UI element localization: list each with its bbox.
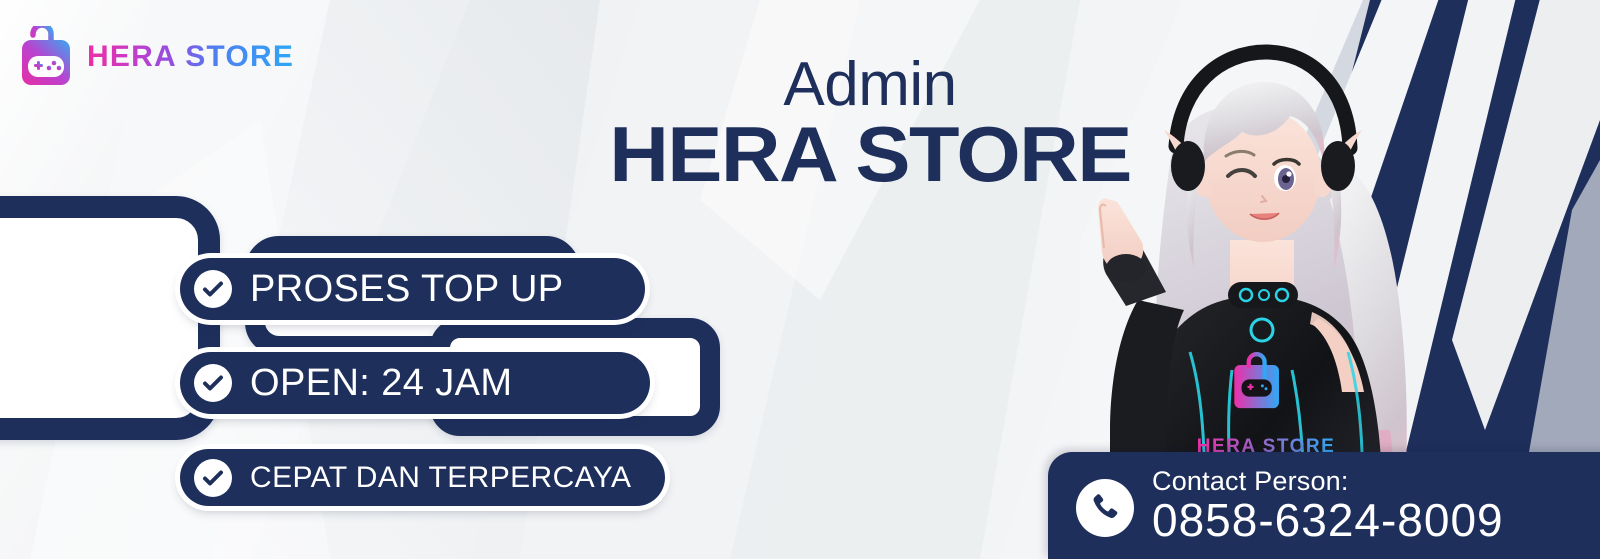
check-circle-icon bbox=[194, 270, 232, 308]
brand-logo-text: HERA STORE bbox=[87, 42, 294, 72]
page-title: Admin HERA STORE bbox=[620, 56, 1120, 192]
contact-label: Contact Person: bbox=[1152, 467, 1504, 495]
feature-pill-label: PROSES TOP UP bbox=[250, 268, 564, 311]
contact-text-group: Contact Person: 0858-6324-8009 bbox=[1152, 467, 1504, 544]
feature-pill-proses-top-up[interactable]: PROSES TOP UP bbox=[180, 258, 645, 320]
shopping-bag-gamepad-icon bbox=[18, 26, 74, 88]
contact-number[interactable]: 0858-6324-8009 bbox=[1152, 496, 1504, 544]
feature-pill-label: OPEN: 24 JAM bbox=[250, 362, 512, 405]
feature-pill-cepat-dan-terpercaya[interactable]: CEPAT DAN TERPERCAYA bbox=[180, 449, 665, 506]
contact-bar[interactable]: Contact Person: 0858-6324-8009 bbox=[1048, 452, 1600, 559]
feature-pill-label: CEPAT DAN TERPERCAYA bbox=[250, 461, 631, 495]
headline-line-1: Admin bbox=[620, 56, 1120, 115]
feature-pill-open-24-jam[interactable]: OPEN: 24 JAM bbox=[180, 352, 650, 414]
phone-icon bbox=[1076, 479, 1134, 537]
promo-banner: HERA STORE bbox=[0, 0, 1600, 559]
headline-line-2: HERA STORE bbox=[605, 117, 1135, 192]
brand-logo[interactable]: HERA STORE bbox=[18, 26, 294, 88]
check-circle-icon bbox=[194, 364, 232, 402]
check-circle-icon bbox=[194, 459, 232, 497]
